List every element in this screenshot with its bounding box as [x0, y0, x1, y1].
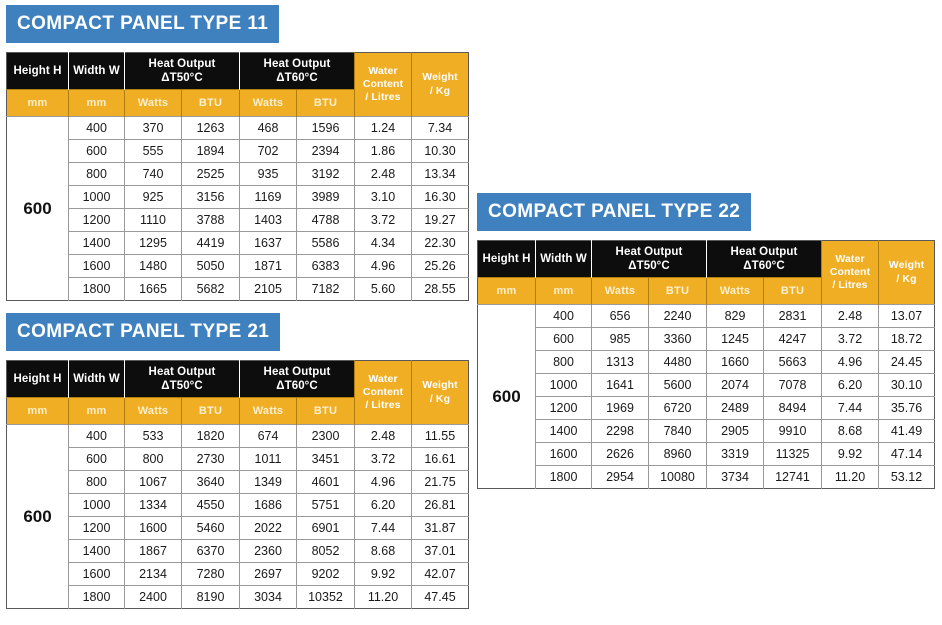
- spec-table-type-11: Height HWidth WHeat OutputΔT50°CHeat Out…: [6, 52, 469, 301]
- table-row: 800740252593531922.4813.34: [7, 163, 469, 186]
- table-row: 160014805050187163834.9625.26: [7, 255, 469, 278]
- cell-water-content: 4.96: [355, 255, 412, 278]
- heat-output-delta-label: ΔT50°C: [592, 259, 706, 273]
- water-content-line-1: Water: [822, 253, 878, 266]
- unit-header-dt60-watts: Watts: [240, 398, 297, 425]
- water-content-line-2: Content: [355, 386, 411, 399]
- cell-weight: 22.30: [412, 232, 469, 255]
- cell-water-content: 5.60: [355, 278, 412, 301]
- table-row: 140018676370236080528.6837.01: [7, 540, 469, 563]
- cell-water-content: 2.48: [822, 305, 879, 328]
- col-header-water-content: WaterContent/ Litres: [822, 241, 879, 305]
- col-header-water-content: WaterContent/ Litres: [355, 53, 412, 117]
- cell-water-content: 7.44: [822, 397, 879, 420]
- panel-block-type-11: COMPACT PANEL TYPE 11Height HWidth WHeat…: [6, 5, 469, 301]
- cell-width: 800: [536, 351, 592, 374]
- col-header-height: Height H: [7, 53, 69, 90]
- heat-output-delta-label: ΔT60°C: [240, 71, 354, 85]
- cell-dt50-watts: 1067: [125, 471, 182, 494]
- cell-dt50-watts: 2626: [592, 443, 649, 466]
- unit-header-height-mm: mm: [7, 90, 69, 117]
- cell-water-content: 4.96: [822, 351, 879, 374]
- cell-weight: 19.27: [412, 209, 469, 232]
- cell-weight: 47.45: [412, 586, 469, 609]
- cell-weight: 30.10: [879, 374, 935, 397]
- water-content-line-2: Content: [822, 266, 878, 279]
- cell-dt50-watts: 2400: [125, 586, 182, 609]
- unit-header-dt50-watts: Watts: [592, 278, 649, 305]
- cell-dt60-watts: 1637: [240, 232, 297, 255]
- unit-header-dt50-btu: BTU: [182, 90, 240, 117]
- cell-width: 1000: [536, 374, 592, 397]
- cell-dt50-btu: 1894: [182, 140, 240, 163]
- table-row: 160021347280269792029.9242.07: [7, 563, 469, 586]
- col-header-width: Width W: [69, 53, 125, 90]
- cell-weight: 28.55: [412, 278, 469, 301]
- cell-dt50-watts: 1641: [592, 374, 649, 397]
- cell-weight: 13.34: [412, 163, 469, 186]
- cell-dt50-btu: 4550: [182, 494, 240, 517]
- heat-output-delta-label: ΔT50°C: [125, 71, 239, 85]
- cell-dt60-btu: 12741: [764, 466, 822, 489]
- weight-line-2: / Kg: [412, 85, 468, 98]
- cell-dt50-btu: 8190: [182, 586, 240, 609]
- cell-dt60-btu: 6901: [297, 517, 355, 540]
- cell-dt60-watts: 3319: [707, 443, 764, 466]
- cell-weight: 7.34: [412, 117, 469, 140]
- cell-dt60-watts: 1011: [240, 448, 297, 471]
- table-row: 600400656224082928312.4813.07: [478, 305, 935, 328]
- cell-weight: 16.61: [412, 448, 469, 471]
- cell-dt60-watts: 2697: [240, 563, 297, 586]
- cell-dt60-btu: 4788: [297, 209, 355, 232]
- cell-dt50-btu: 10080: [649, 466, 707, 489]
- cell-weight: 25.26: [412, 255, 469, 278]
- cell-dt60-btu: 8052: [297, 540, 355, 563]
- cell-dt60-watts: 1245: [707, 328, 764, 351]
- cell-water-content: 3.72: [355, 209, 412, 232]
- table-header-row-primary: Height HWidth WHeat OutputΔT50°CHeat Out…: [7, 53, 469, 90]
- col-header-width: Width W: [69, 361, 125, 398]
- heat-output-delta-label: ΔT50°C: [125, 379, 239, 393]
- cell-dt50-btu: 6370: [182, 540, 240, 563]
- cell-water-content: 4.96: [355, 471, 412, 494]
- table-row: 100016415600207470786.2030.10: [478, 374, 935, 397]
- cell-weight: 31.87: [412, 517, 469, 540]
- cell-dt50-btu: 7280: [182, 563, 240, 586]
- col-header-water-content: WaterContent/ Litres: [355, 361, 412, 425]
- col-header-height: Height H: [478, 241, 536, 278]
- table-row: 6009853360124542473.7218.72: [478, 328, 935, 351]
- cell-dt50-watts: 800: [125, 448, 182, 471]
- cell-width: 1400: [536, 420, 592, 443]
- unit-header-dt50-btu: BTU: [182, 398, 240, 425]
- cell-weight: 53.12: [879, 466, 935, 489]
- cell-width: 800: [69, 163, 125, 186]
- col-header-heat-output-dt60: Heat OutputΔT60°C: [240, 361, 355, 398]
- cell-dt60-watts: 3034: [240, 586, 297, 609]
- cell-dt50-watts: 2134: [125, 563, 182, 586]
- unit-header-height-mm: mm: [478, 278, 536, 305]
- cell-dt60-btu: 5663: [764, 351, 822, 374]
- cell-weight: 26.81: [412, 494, 469, 517]
- water-content-line-3: / Litres: [822, 279, 878, 292]
- unit-header-height-mm: mm: [7, 398, 69, 425]
- cell-width: 1600: [69, 255, 125, 278]
- col-header-heat-output-dt60: Heat OutputΔT60°C: [707, 241, 822, 278]
- cell-dt50-watts: 1110: [125, 209, 182, 232]
- weight-line-2: / Kg: [412, 393, 468, 406]
- table-row: 18002400819030341035211.2047.45: [7, 586, 469, 609]
- cell-dt60-btu: 5586: [297, 232, 355, 255]
- col-header-heat-output-dt50: Heat OutputΔT50°C: [125, 53, 240, 90]
- cell-weight: 42.07: [412, 563, 469, 586]
- cell-dt50-btu: 5682: [182, 278, 240, 301]
- cell-weight: 10.30: [412, 140, 469, 163]
- cell-dt50-btu: 7840: [649, 420, 707, 443]
- table-row: 120011103788140347883.7219.27: [7, 209, 469, 232]
- cell-dt60-btu: 7078: [764, 374, 822, 397]
- cell-dt60-watts: 1871: [240, 255, 297, 278]
- cell-dt50-watts: 925: [125, 186, 182, 209]
- cell-dt60-watts: 1403: [240, 209, 297, 232]
- spec-table-type-21: Height HWidth WHeat OutputΔT50°CHeat Out…: [6, 360, 469, 609]
- cell-width: 1400: [69, 540, 125, 563]
- cell-weight: 24.45: [879, 351, 935, 374]
- cell-dt60-btu: 4247: [764, 328, 822, 351]
- cell-dt60-watts: 2105: [240, 278, 297, 301]
- unit-header-dt50-btu: BTU: [649, 278, 707, 305]
- col-header-height: Height H: [7, 361, 69, 398]
- table-row: 1600262689603319113259.9247.14: [478, 443, 935, 466]
- cell-dt50-btu: 1263: [182, 117, 240, 140]
- cell-dt50-btu: 8960: [649, 443, 707, 466]
- cell-width: 600: [536, 328, 592, 351]
- heat-output-label: Heat Output: [240, 365, 354, 379]
- heat-output-label: Heat Output: [125, 57, 239, 71]
- cell-dt60-watts: 935: [240, 163, 297, 186]
- cell-width: 800: [69, 471, 125, 494]
- cell-width: 1600: [69, 563, 125, 586]
- cell-dt50-watts: 2298: [592, 420, 649, 443]
- heat-output-label: Heat Output: [125, 365, 239, 379]
- col-header-heat-output-dt50: Heat OutputΔT50°C: [592, 241, 707, 278]
- col-header-width: Width W: [536, 241, 592, 278]
- cell-water-content: 3.10: [355, 186, 412, 209]
- cell-weight: 16.30: [412, 186, 469, 209]
- cell-water-content: 9.92: [355, 563, 412, 586]
- cell-dt50-watts: 1313: [592, 351, 649, 374]
- col-header-weight: Weight/ Kg: [879, 241, 935, 305]
- cell-water-content: 3.72: [355, 448, 412, 471]
- cell-water-content: 8.68: [822, 420, 879, 443]
- cell-dt50-btu: 2730: [182, 448, 240, 471]
- cell-dt60-btu: 10352: [297, 586, 355, 609]
- unit-header-dt60-btu: BTU: [297, 398, 355, 425]
- cell-weight: 11.55: [412, 425, 469, 448]
- cell-water-content: 7.44: [355, 517, 412, 540]
- cell-dt50-btu: 1820: [182, 425, 240, 448]
- cell-dt50-btu: 6720: [649, 397, 707, 420]
- cell-dt50-watts: 1665: [125, 278, 182, 301]
- table-row: 180029541008037341274111.2053.12: [478, 466, 935, 489]
- panel-block-type-22: COMPACT PANEL TYPE 22Height HWidth WHeat…: [477, 193, 935, 489]
- cell-width: 400: [536, 305, 592, 328]
- cell-dt60-watts: 1660: [707, 351, 764, 374]
- cell-weight: 41.49: [879, 420, 935, 443]
- cell-dt60-btu: 9910: [764, 420, 822, 443]
- cell-weight: 37.01: [412, 540, 469, 563]
- cell-weight: 18.72: [879, 328, 935, 351]
- unit-header-width-mm: mm: [536, 278, 592, 305]
- cell-dt50-watts: 1334: [125, 494, 182, 517]
- cell-width: 1000: [69, 186, 125, 209]
- cell-dt50-btu: 2240: [649, 305, 707, 328]
- cell-dt60-watts: 2022: [240, 517, 297, 540]
- cell-dt60-btu: 3989: [297, 186, 355, 209]
- cell-dt60-btu: 3451: [297, 448, 355, 471]
- cell-dt60-btu: 8494: [764, 397, 822, 420]
- weight-line-1: Weight: [879, 259, 934, 272]
- cell-dt60-btu: 2831: [764, 305, 822, 328]
- panel-title-banner-type-11: COMPACT PANEL TYPE 11: [6, 5, 279, 43]
- cell-water-content: 3.72: [822, 328, 879, 351]
- heat-output-delta-label: ΔT60°C: [707, 259, 821, 273]
- cell-water-content: 1.24: [355, 117, 412, 140]
- cell-width: 1200: [69, 517, 125, 540]
- col-header-weight: Weight/ Kg: [412, 53, 469, 117]
- table-row: 100013344550168657516.2026.81: [7, 494, 469, 517]
- cell-water-content: 2.48: [355, 163, 412, 186]
- panel-title-banner-type-22: COMPACT PANEL TYPE 22: [477, 193, 751, 231]
- water-content-line-3: / Litres: [355, 399, 411, 412]
- cell-dt50-watts: 985: [592, 328, 649, 351]
- col-header-heat-output-dt50: Heat OutputΔT50°C: [125, 361, 240, 398]
- cell-dt50-btu: 3788: [182, 209, 240, 232]
- cell-water-content: 1.86: [355, 140, 412, 163]
- water-content-line-3: / Litres: [355, 91, 411, 104]
- cell-dt60-watts: 2489: [707, 397, 764, 420]
- table-row: 10009253156116939893.1016.30: [7, 186, 469, 209]
- cell-dt60-btu: 3192: [297, 163, 355, 186]
- cell-height-value: 600: [478, 305, 536, 489]
- heat-output-label: Heat Output: [707, 245, 821, 259]
- cell-dt60-btu: 7182: [297, 278, 355, 301]
- cell-width: 1800: [69, 278, 125, 301]
- water-content-line-1: Water: [355, 373, 411, 386]
- cell-dt60-watts: 2360: [240, 540, 297, 563]
- unit-header-dt60-btu: BTU: [764, 278, 822, 305]
- water-content-line-2: Content: [355, 78, 411, 91]
- table-row: 180016655682210571825.6028.55: [7, 278, 469, 301]
- cell-dt60-btu: 1596: [297, 117, 355, 140]
- cell-dt50-watts: 740: [125, 163, 182, 186]
- table-row: 120019696720248984947.4435.76: [478, 397, 935, 420]
- cell-dt50-watts: 555: [125, 140, 182, 163]
- cell-dt50-btu: 5460: [182, 517, 240, 540]
- cell-dt50-btu: 2525: [182, 163, 240, 186]
- unit-header-dt60-watts: Watts: [707, 278, 764, 305]
- cell-width: 600: [69, 140, 125, 163]
- cell-weight: 47.14: [879, 443, 935, 466]
- heat-output-delta-label: ΔT60°C: [240, 379, 354, 393]
- cell-dt60-watts: 1349: [240, 471, 297, 494]
- cell-width: 400: [69, 425, 125, 448]
- cell-water-content: 4.34: [355, 232, 412, 255]
- cell-dt60-watts: 1686: [240, 494, 297, 517]
- table-row: 600400370126346815961.247.34: [7, 117, 469, 140]
- cell-height-value: 600: [7, 425, 69, 609]
- cell-dt50-watts: 1969: [592, 397, 649, 420]
- cell-weight: 21.75: [412, 471, 469, 494]
- table-header-row-primary: Height HWidth WHeat OutputΔT50°CHeat Out…: [7, 361, 469, 398]
- unit-header-width-mm: mm: [69, 90, 125, 117]
- cell-dt60-watts: 3734: [707, 466, 764, 489]
- cell-weight: 35.76: [879, 397, 935, 420]
- unit-header-dt50-watts: Watts: [125, 398, 182, 425]
- cell-dt50-btu: 4480: [649, 351, 707, 374]
- cell-dt50-watts: 370: [125, 117, 182, 140]
- heat-output-label: Heat Output: [240, 57, 354, 71]
- cell-dt50-watts: 533: [125, 425, 182, 448]
- cell-dt60-watts: 1169: [240, 186, 297, 209]
- cell-water-content: 11.20: [822, 466, 879, 489]
- weight-line-2: / Kg: [879, 273, 934, 286]
- cell-water-content: 8.68: [355, 540, 412, 563]
- cell-dt60-btu: 6383: [297, 255, 355, 278]
- cell-dt60-watts: 674: [240, 425, 297, 448]
- cell-dt50-watts: 1480: [125, 255, 182, 278]
- table-header-row-primary: Height HWidth WHeat OutputΔT50°CHeat Out…: [478, 241, 935, 278]
- table-row: 140022987840290599108.6841.49: [478, 420, 935, 443]
- cell-width: 1800: [536, 466, 592, 489]
- table-row: 140012954419163755864.3422.30: [7, 232, 469, 255]
- unit-header-dt60-watts: Watts: [240, 90, 297, 117]
- table-row: 6008002730101134513.7216.61: [7, 448, 469, 471]
- panel-title-banner-type-21: COMPACT PANEL TYPE 21: [6, 313, 280, 351]
- cell-dt60-watts: 829: [707, 305, 764, 328]
- cell-dt60-watts: 468: [240, 117, 297, 140]
- table-row: 600400533182067423002.4811.55: [7, 425, 469, 448]
- cell-width: 1000: [69, 494, 125, 517]
- panel-block-type-21: COMPACT PANEL TYPE 21Height HWidth WHeat…: [6, 313, 469, 609]
- weight-line-1: Weight: [412, 71, 468, 84]
- cell-water-content: 6.20: [355, 494, 412, 517]
- cell-dt50-btu: 5050: [182, 255, 240, 278]
- col-header-weight: Weight/ Kg: [412, 361, 469, 425]
- cell-dt60-watts: 2074: [707, 374, 764, 397]
- cell-width: 400: [69, 117, 125, 140]
- cell-dt60-btu: 11325: [764, 443, 822, 466]
- unit-header-dt50-watts: Watts: [125, 90, 182, 117]
- unit-header-width-mm: mm: [69, 398, 125, 425]
- cell-dt60-btu: 2394: [297, 140, 355, 163]
- cell-dt50-watts: 1600: [125, 517, 182, 540]
- cell-water-content: 11.20: [355, 586, 412, 609]
- cell-height-value: 600: [7, 117, 69, 301]
- cell-width: 1600: [536, 443, 592, 466]
- cell-width: 600: [69, 448, 125, 471]
- table-row: 80013134480166056634.9624.45: [478, 351, 935, 374]
- cell-dt60-btu: 9202: [297, 563, 355, 586]
- cell-water-content: 6.20: [822, 374, 879, 397]
- spec-table-type-22: Height HWidth WHeat OutputΔT50°CHeat Out…: [477, 240, 935, 489]
- table-row: 600555189470223941.8610.30: [7, 140, 469, 163]
- col-header-heat-output-dt60: Heat OutputΔT60°C: [240, 53, 355, 90]
- cell-weight: 13.07: [879, 305, 935, 328]
- cell-width: 1200: [69, 209, 125, 232]
- cell-water-content: 2.48: [355, 425, 412, 448]
- cell-dt50-btu: 4419: [182, 232, 240, 255]
- cell-dt50-btu: 3360: [649, 328, 707, 351]
- cell-dt60-btu: 5751: [297, 494, 355, 517]
- cell-dt50-watts: 1867: [125, 540, 182, 563]
- cell-dt50-watts: 2954: [592, 466, 649, 489]
- cell-width: 1400: [69, 232, 125, 255]
- cell-dt50-watts: 656: [592, 305, 649, 328]
- table-row: 80010673640134946014.9621.75: [7, 471, 469, 494]
- cell-dt60-watts: 702: [240, 140, 297, 163]
- cell-dt50-btu: 5600: [649, 374, 707, 397]
- cell-dt50-btu: 3156: [182, 186, 240, 209]
- weight-line-1: Weight: [412, 379, 468, 392]
- cell-dt50-btu: 3640: [182, 471, 240, 494]
- heat-output-label: Heat Output: [592, 245, 706, 259]
- cell-dt50-watts: 1295: [125, 232, 182, 255]
- unit-header-dt60-btu: BTU: [297, 90, 355, 117]
- cell-dt60-btu: 4601: [297, 471, 355, 494]
- cell-width: 1800: [69, 586, 125, 609]
- cell-water-content: 9.92: [822, 443, 879, 466]
- cell-dt60-watts: 2905: [707, 420, 764, 443]
- cell-dt60-btu: 2300: [297, 425, 355, 448]
- water-content-line-1: Water: [355, 65, 411, 78]
- cell-width: 1200: [536, 397, 592, 420]
- table-row: 120016005460202269017.4431.87: [7, 517, 469, 540]
